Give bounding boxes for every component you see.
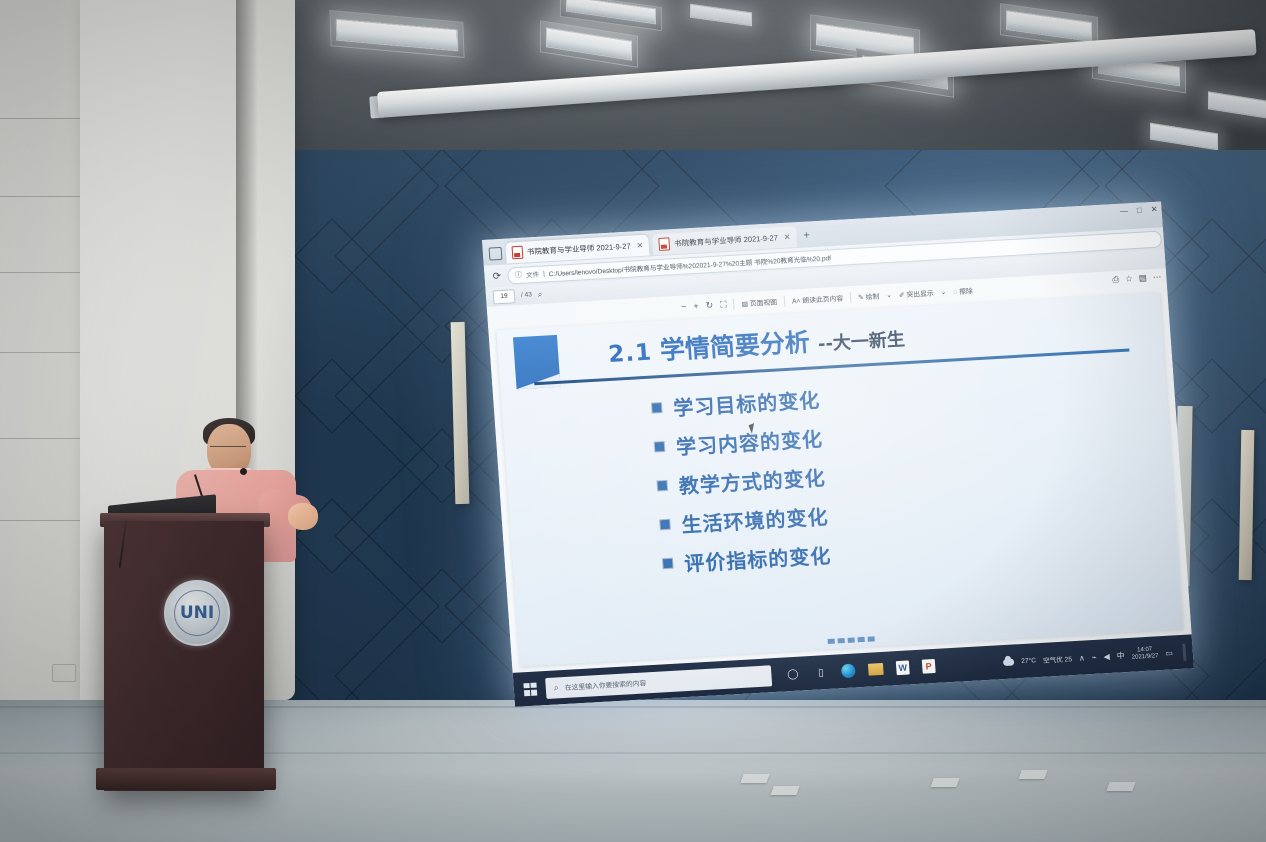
network-icon[interactable]: ⌁: [1091, 652, 1096, 661]
search-input[interactable]: ⌕ 在这里输入你要搜索的内容: [545, 665, 772, 699]
page-view-button[interactable]: ▤ 页面视图: [741, 296, 777, 308]
slide-bullet-list: 学习目标的变化 学习内容的变化 教学方式的变化 生活环境的变化: [651, 366, 1147, 578]
slide-title-sub: --大一新生: [817, 325, 906, 356]
taskbar-icons: ◯ ▯ W P: [785, 658, 936, 681]
university-emblem: UNI: [164, 580, 230, 646]
bullet-marker-icon: [655, 442, 665, 451]
task-view-icon[interactable]: ▯: [813, 665, 829, 681]
chevron-up-icon[interactable]: ∧: [1079, 653, 1085, 662]
bullet-text: 生活环境的变化: [681, 501, 830, 538]
edge-browser-window: 书院教育与学业导师 2021-9-27 ✕ 书院教育与学业导师 2021-9-2…: [482, 201, 1194, 706]
file-explorer-icon[interactable]: [868, 663, 884, 676]
close-icon[interactable]: ✕: [636, 240, 643, 249]
highlight-chevron-down-icon[interactable]: ⌄: [940, 288, 946, 296]
bullet-text: 学习目标的变化: [672, 384, 821, 421]
close-button[interactable]: ✕: [1150, 205, 1157, 214]
speaker-hand: [288, 503, 318, 530]
word-icon[interactable]: W: [896, 660, 910, 675]
draw-chevron-down-icon[interactable]: ⌄: [886, 291, 892, 299]
speaker-glasses: [210, 446, 246, 455]
new-tab-button[interactable]: +: [803, 229, 810, 241]
close-icon[interactable]: ✕: [783, 232, 790, 241]
pdf-viewer: − + ↻ ⛶ ▤ 页面视图 A˄ 朗读此页内容 ✎ 绘制 ⌄ ✐ 突出显示 ⌄…: [487, 268, 1192, 673]
tab-actions-icon[interactable]: [489, 246, 503, 260]
wall-outlet: [52, 664, 76, 682]
favorite-icon[interactable]: ☆: [1125, 273, 1133, 284]
weather-air-quality[interactable]: 空气优 25: [1043, 653, 1073, 665]
microphone-head: [240, 468, 247, 475]
page-total-label: / 43: [521, 291, 532, 299]
bullet-text: 评价指标的变化: [683, 540, 832, 577]
floor-paper: [1106, 782, 1135, 791]
tab-title: 书院教育与学业导师 2021-9-27: [674, 232, 778, 249]
ime-icon[interactable]: 中: [1116, 650, 1125, 661]
floor-paper: [1018, 770, 1047, 779]
start-button[interactable]: [523, 682, 537, 696]
fit-icon[interactable]: ⛶: [720, 299, 727, 310]
acoustic-panel: [1239, 430, 1255, 580]
reload-icon[interactable]: ⟳: [492, 270, 501, 281]
bullet-marker-icon: [660, 520, 670, 529]
minimize-button[interactable]: —: [1120, 206, 1129, 215]
bullet-marker-icon: [657, 481, 667, 490]
weather-temp[interactable]: 27°C: [1021, 657, 1036, 665]
weather-icon[interactable]: [1003, 658, 1014, 666]
minus-icon[interactable]: −: [681, 302, 687, 312]
search-placeholder: 在这里输入你要搜索的内容: [564, 677, 646, 692]
projected-screen: 书院教育与学业导师 2021-9-27 ✕ 书院教育与学业导师 2021-9-2…: [482, 201, 1194, 706]
bullet-marker-icon: [652, 403, 662, 412]
url-separator: |: [543, 270, 545, 277]
pdf-icon: [511, 245, 523, 259]
maximize-button[interactable]: □: [1137, 206, 1142, 215]
edge-icon[interactable]: [841, 664, 856, 679]
bullet-marker-icon: [663, 559, 673, 568]
clock-date: 2021/9/27: [1132, 653, 1159, 661]
collections-icon[interactable]: ▤: [1138, 272, 1147, 283]
sound-icon[interactable]: ◀: [1103, 652, 1110, 661]
system-tray: 27°C 空气优 25 ∧ ⌁ ◀ 中 14:07 2021/9/27 ▭: [1003, 643, 1194, 671]
floor-paper: [770, 786, 799, 795]
slide-title-number: 2.1: [608, 340, 654, 368]
podium: [104, 521, 264, 791]
draw-button[interactable]: ✎ 绘制: [858, 291, 880, 302]
search-icon[interactable]: ⌕: [537, 289, 542, 299]
presentation-slide: 2.1 学情简要分析 --大一新生 学习目标的变化 学习内容的变化: [496, 293, 1183, 667]
powerpoint-icon[interactable]: P: [922, 659, 936, 674]
rotate-icon[interactable]: ↻: [705, 300, 713, 311]
url-scheme-label: 文件: [526, 269, 540, 280]
show-desktop-button[interactable]: [1182, 643, 1186, 660]
tab-title: 书院教育与学业导师 2021-9-27: [527, 240, 631, 257]
lecture-hall-photo: UNI 书院教育与学业导师 2021-9-27 ✕ 书院教育与学业导师 2021…: [0, 0, 1266, 842]
slide-title: 2.1 学情简要分析 --大一新生: [607, 317, 906, 370]
slide-title-main: 学情简要分析: [659, 323, 811, 367]
podium-base: [96, 768, 276, 790]
bullet-text: 教学方式的变化: [678, 462, 827, 499]
floor-paper: [930, 778, 959, 787]
print-icon[interactable]: ⎙: [1112, 274, 1120, 285]
highlight-button[interactable]: ✐ 突出显示: [899, 287, 934, 299]
cortana-icon[interactable]: ◯: [785, 666, 801, 682]
pdf-icon: [659, 237, 671, 251]
floor-paper: [740, 774, 769, 783]
info-icon: ⓘ: [515, 270, 523, 280]
plus-icon[interactable]: +: [693, 301, 699, 311]
slide-page-dots: [828, 636, 875, 644]
search-icon: ⌕: [553, 682, 559, 693]
notification-icon[interactable]: ▭: [1165, 648, 1173, 657]
page-number-input[interactable]: 19: [493, 289, 516, 304]
emblem-mark: UNI: [180, 603, 214, 623]
clock[interactable]: 14:07 2021/9/27: [1131, 646, 1159, 661]
erase-button[interactable]: ◌ 擦除: [953, 285, 973, 296]
more-icon[interactable]: ⋯: [1152, 272, 1161, 283]
read-aloud-button[interactable]: A˄ 朗读此页内容: [792, 293, 844, 306]
